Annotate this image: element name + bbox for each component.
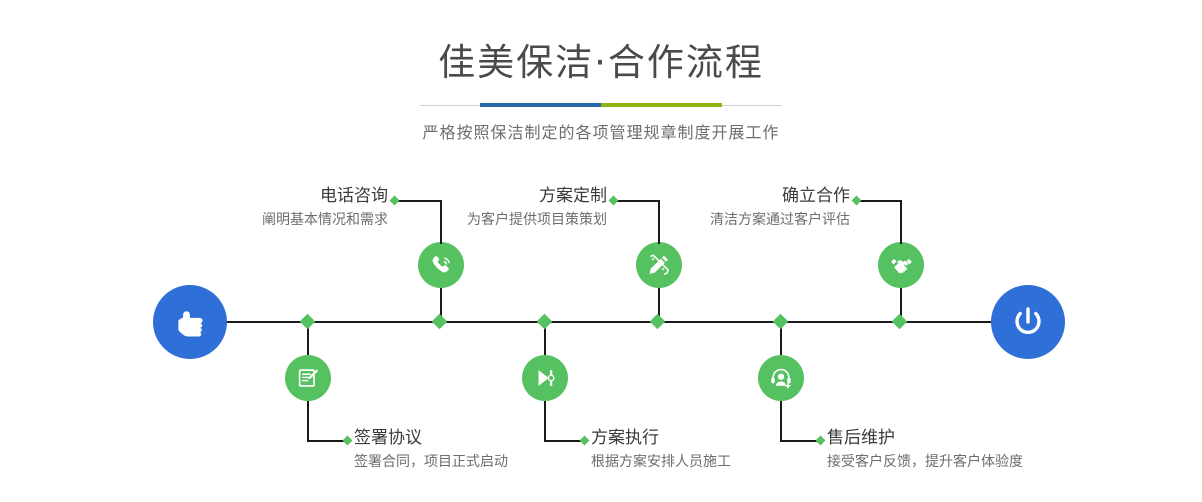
step-label-5: 确立合作 清洁方案通过客户评估 — [610, 186, 850, 230]
step-label-1: 电话咨询 阐明基本情况和需求 — [150, 186, 388, 230]
step-desc-2: 签署合同，项目正式启动 — [354, 452, 508, 472]
step-node-5[interactable] — [878, 242, 924, 288]
header: 佳美保洁·合作流程 严格按照保洁制定的各项管理规章制度开展工作 — [0, 0, 1202, 143]
axis-diamond-1 — [432, 314, 448, 330]
document-pencil-icon — [295, 365, 321, 391]
page-title: 佳美保洁·合作流程 — [0, 44, 1202, 81]
connector-vline-4b — [544, 401, 546, 441]
axis-diamond-6 — [773, 314, 789, 330]
connector-vline-2b — [307, 401, 309, 441]
flow-diagram: 佳美保洁·合作流程 严格按照保洁制定的各项管理规章制度开展工作 — [0, 0, 1202, 502]
step-desc-4: 根据方案安排人员施工 — [591, 452, 731, 472]
axis-diamond-4 — [537, 314, 553, 330]
step-desc-3: 为客户提供项目策策划 — [370, 210, 607, 230]
start-endpoint — [153, 285, 227, 359]
step-label-2: 签署协议 签署合同，项目正式启动 — [354, 428, 508, 472]
connector-hline-6 — [780, 440, 820, 442]
connector-tick-6 — [816, 436, 826, 446]
step-node-3[interactable] — [636, 242, 682, 288]
pencil-ruler-icon — [646, 252, 672, 278]
headset-support-icon — [768, 365, 794, 391]
end-endpoint — [991, 285, 1065, 359]
step-node-1[interactable] — [418, 242, 464, 288]
page-subtitle: 严格按照保洁制定的各项管理规章制度开展工作 — [0, 119, 1202, 143]
step-title-6: 售后维护 — [827, 428, 1023, 449]
axis-diamond-3 — [650, 314, 666, 330]
connector-tick-2 — [343, 436, 353, 446]
play-execute-icon — [532, 365, 558, 391]
divider-segment-green — [601, 103, 722, 107]
divider-segment-blue — [480, 103, 601, 107]
step-title-1: 电话咨询 — [150, 186, 388, 207]
connector-vline-5 — [900, 200, 902, 244]
step-node-4[interactable] — [522, 355, 568, 401]
axis-diamond-5 — [892, 314, 908, 330]
step-title-5: 确立合作 — [610, 186, 850, 207]
step-desc-6: 接受客户反馈，提升客户体验度 — [827, 452, 1023, 472]
step-label-4: 方案执行 根据方案安排人员施工 — [591, 428, 731, 472]
phone-call-icon — [428, 252, 455, 279]
connector-tick-4 — [580, 436, 590, 446]
connector-hline-5 — [857, 200, 902, 202]
step-node-6[interactable] — [758, 355, 804, 401]
connector-hline-2 — [307, 440, 347, 442]
axis-diamond-2 — [300, 314, 316, 330]
connector-tick-5 — [852, 196, 862, 206]
step-desc-5: 清洁方案通过客户评估 — [610, 210, 850, 230]
step-node-2[interactable] — [285, 355, 331, 401]
title-divider — [420, 103, 782, 107]
handshake-icon — [888, 252, 915, 279]
power-icon — [1007, 301, 1049, 343]
step-title-2: 签署协议 — [354, 428, 508, 449]
step-label-3: 方案定制 为客户提供项目策策划 — [370, 186, 607, 230]
step-label-6: 售后维护 接受客户反馈，提升客户体验度 — [827, 428, 1023, 472]
step-desc-1: 阐明基本情况和需求 — [150, 210, 388, 230]
step-title-4: 方案执行 — [591, 428, 731, 449]
pointing-hand-icon — [170, 302, 210, 342]
step-title-3: 方案定制 — [370, 186, 607, 207]
connector-vline-6b — [780, 401, 782, 441]
connector-hline-4 — [544, 440, 584, 442]
